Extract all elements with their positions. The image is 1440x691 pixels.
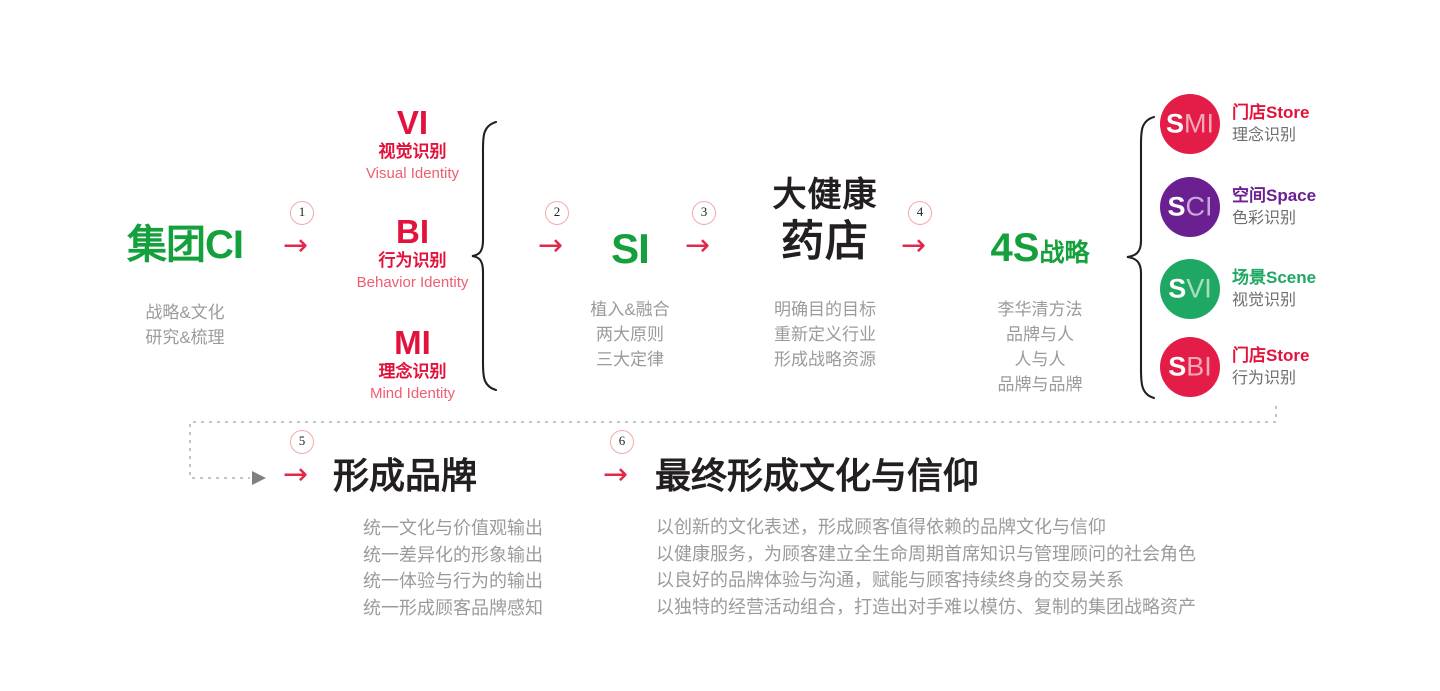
four-s-labels-sbi: 门店Store 行为识别 bbox=[1232, 345, 1309, 390]
stage-group-ci-title: 集团CI bbox=[100, 225, 270, 265]
four-s-sub-sbi: 行为识别 bbox=[1232, 368, 1309, 390]
arrow-2-icon: → bbox=[538, 231, 563, 261]
step-number-6: 6 bbox=[610, 430, 634, 454]
step-marker-6: 6 bbox=[610, 430, 634, 454]
stage-group-ci-desc: 战略&文化 研究&梳理 bbox=[95, 300, 275, 350]
four-s-item-svi: SVI 场景Scene 视觉识别 bbox=[1160, 259, 1316, 319]
brace-4s bbox=[1124, 115, 1158, 400]
step-number-5: 5 bbox=[290, 430, 314, 454]
arrow-5-icon: → bbox=[283, 460, 308, 490]
arrow-4-icon: → bbox=[901, 231, 926, 261]
badge-text-svi: SVI bbox=[1160, 276, 1220, 303]
badge-text-sbi: SBI bbox=[1160, 354, 1220, 381]
step-marker-5: 5 bbox=[290, 430, 314, 454]
four-s-title-smi: 门店Store bbox=[1232, 102, 1309, 125]
stage-6-desc-line-3: 以良好的品牌体验与沟通，赋能与顾客持续终身的交易关系 bbox=[656, 567, 1356, 594]
step-marker-3: 3 bbox=[692, 201, 716, 225]
step-marker-4: 4 bbox=[908, 201, 932, 225]
stage-store: 大健康 药店 bbox=[730, 178, 920, 264]
stage-4s-title-big: 4S bbox=[991, 226, 1040, 270]
stage-6-title: 最终形成文化与信仰 bbox=[655, 458, 979, 494]
step-number-4: 4 bbox=[908, 201, 932, 225]
stage-4s-desc: 李华清方法 品牌与人 人与人 品牌与品牌 bbox=[945, 297, 1135, 397]
stage-store-desc: 明确目的目标 重新定义行业 形成战略资源 bbox=[725, 297, 925, 372]
four-s-labels-sci: 空间Space 色彩识别 bbox=[1232, 185, 1316, 230]
step-number-1: 1 bbox=[290, 201, 314, 225]
stage-si-desc: 植入&融合 两大原则 三大定律 bbox=[555, 297, 705, 372]
stage-5-desc: 统一文化与价值观输出 统一差异化的形象输出 统一体验与行为的输出 统一形成顾客品… bbox=[318, 515, 588, 621]
four-s-item-smi: SMI 门店Store 理念识别 bbox=[1160, 94, 1309, 154]
badge-circle-smi: SMI bbox=[1160, 94, 1220, 154]
four-s-title-sbi: 门店Store bbox=[1232, 345, 1309, 368]
step-marker-1: 1 bbox=[290, 201, 314, 225]
four-s-labels-smi: 门店Store 理念识别 bbox=[1232, 102, 1309, 147]
four-s-sub-sci: 色彩识别 bbox=[1232, 208, 1316, 230]
brace-identity bbox=[470, 120, 504, 392]
stage-4s: 4S战略 bbox=[950, 228, 1130, 268]
badge-text-smi: SMI bbox=[1160, 111, 1220, 138]
stage-store-line2: 药店 bbox=[730, 221, 920, 264]
four-s-labels-svi: 场景Scene 视觉识别 bbox=[1232, 267, 1316, 312]
arrow-1-icon: → bbox=[283, 231, 308, 261]
four-s-sub-smi: 理念识别 bbox=[1232, 125, 1309, 147]
stage-4s-title-small: 战略 bbox=[1039, 239, 1089, 267]
stage-si-title: SI bbox=[575, 228, 685, 270]
diagram-canvas: 集团CI 战略&文化 研究&梳理 1 → VI 视觉识别 Visual Iden… bbox=[0, 0, 1440, 691]
stage-6-desc-line-1: 以创新的文化表述，形成顾客值得依赖的品牌文化与信仰 bbox=[656, 514, 1356, 541]
stage-6-desc-list: 以创新的文化表述，形成顾客值得依赖的品牌文化与信仰 以健康服务，为顾客建立全生命… bbox=[656, 514, 1356, 620]
stage-store-line1: 大健康 bbox=[730, 178, 920, 212]
stage-6-desc-line-2: 以健康服务，为顾客建立全生命周期首席知识与管理顾问的社会角色 bbox=[656, 541, 1356, 568]
step-number-2: 2 bbox=[545, 201, 569, 225]
arrow-6-icon: → bbox=[603, 460, 628, 490]
step-marker-2: 2 bbox=[545, 201, 569, 225]
stage-6-desc-line-4: 以独特的经营活动组合，打造出对手难以模仿、复制的集团战略资产 bbox=[656, 594, 1356, 621]
badge-circle-sci: SCI bbox=[1160, 177, 1220, 237]
badge-circle-sbi: SBI bbox=[1160, 337, 1220, 397]
stage-5-title: 形成品牌 bbox=[333, 458, 477, 494]
badge-text-sci: SCI bbox=[1160, 194, 1220, 221]
arrow-3-icon: → bbox=[685, 231, 710, 261]
badge-circle-svi: SVI bbox=[1160, 259, 1220, 319]
four-s-sub-svi: 视觉识别 bbox=[1232, 290, 1316, 312]
four-s-item-sci: SCI 空间Space 色彩识别 bbox=[1160, 177, 1316, 237]
stage-4s-title: 4S战略 bbox=[950, 228, 1130, 268]
step-number-3: 3 bbox=[692, 201, 716, 225]
four-s-title-sci: 空间Space bbox=[1232, 185, 1316, 208]
stage-si: SI bbox=[575, 228, 685, 270]
stage-group-ci: 集团CI bbox=[100, 225, 270, 265]
four-s-item-sbi: SBI 门店Store 行为识别 bbox=[1160, 337, 1309, 397]
four-s-title-svi: 场景Scene bbox=[1232, 267, 1316, 290]
